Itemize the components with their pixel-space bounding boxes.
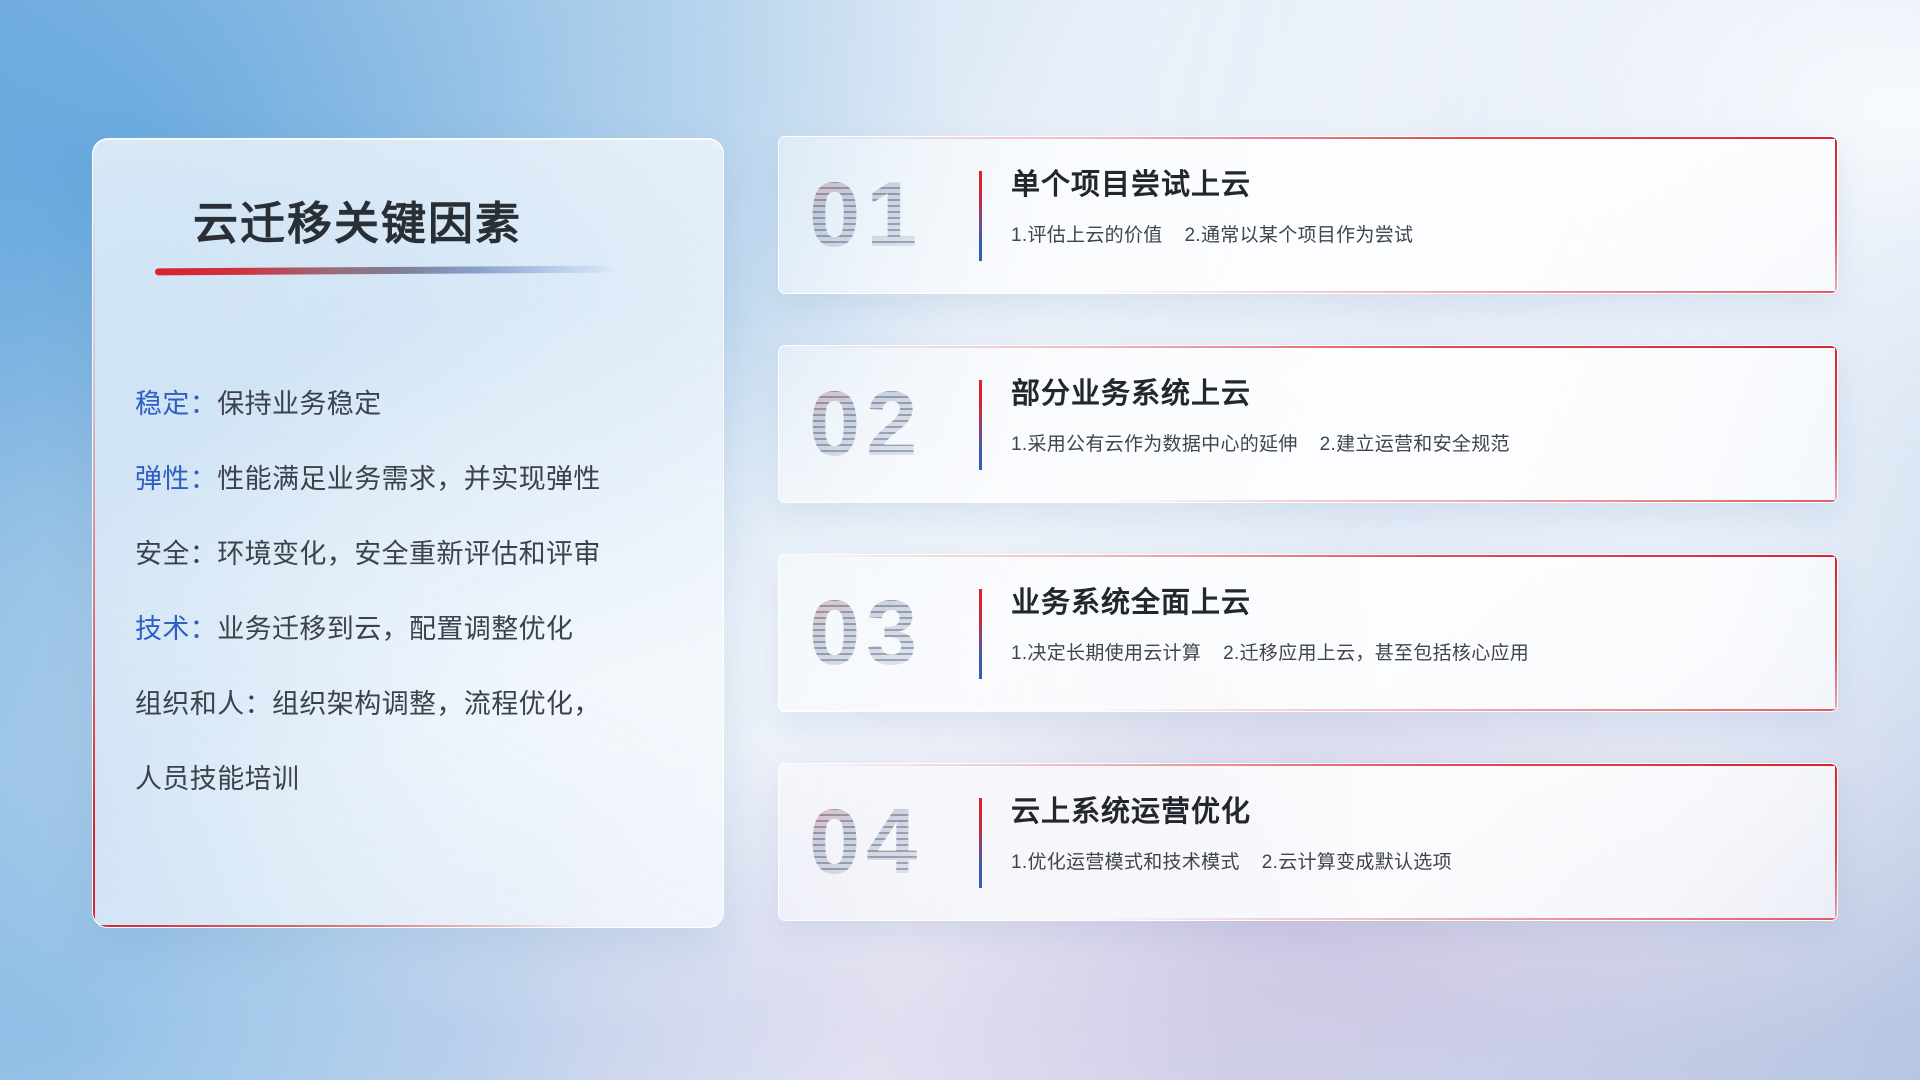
list-item: 人员技能培训 bbox=[135, 742, 697, 817]
factor-value: 性能满足业务需求，并实现弹性 bbox=[217, 464, 601, 494]
stage-card-04[interactable]: 04 云上系统运营优化 1.优化运营模式和技术模式2.云计算变成默认选项 bbox=[778, 763, 1838, 921]
stage-point-1: 1.决定长期使用云计算 bbox=[1011, 643, 1201, 664]
stage-number: 04 bbox=[809, 796, 923, 888]
stage-accent-bar bbox=[979, 171, 982, 261]
stage-description: 1.优化运营模式和技术模式2.云计算变成默认选项 bbox=[1011, 847, 1811, 874]
stage-accent-bar bbox=[979, 380, 982, 470]
card-bottom-accent bbox=[1096, 291, 1837, 293]
factor-label: 安全： bbox=[135, 539, 217, 569]
stage-description: 1.决定长期使用云计算2.迁移应用上云，甚至包括核心应用 bbox=[1011, 638, 1811, 665]
page-title: 云迁移关键因素 bbox=[193, 187, 522, 252]
list-item: 稳定：保持业务稳定 bbox=[135, 367, 697, 442]
stage-text-block: 单个项目尝试上云 1.评估上云的价值2.通常以某个项目作为尝试 bbox=[1011, 167, 1811, 247]
list-item: 弹性：性能满足业务需求，并实现弹性 bbox=[135, 442, 697, 517]
stage-description: 1.采用公有云作为数据中心的延伸2.建立运营和安全规范 bbox=[1011, 429, 1811, 456]
stage-point-1: 1.评估上云的价值 bbox=[1011, 225, 1163, 246]
stage-number: 02 bbox=[809, 378, 923, 470]
stage-title: 云上系统运营优化 bbox=[1011, 794, 1811, 830]
list-item: 组织和人：组织架构调整，流程优化， bbox=[135, 667, 697, 742]
stage-title: 业务系统全面上云 bbox=[1011, 585, 1811, 621]
factor-label: 弹性： bbox=[135, 464, 217, 494]
card-right-accent bbox=[1835, 764, 1837, 920]
card-top-accent bbox=[800, 764, 1837, 766]
stage-title: 部分业务系统上云 bbox=[1011, 376, 1811, 412]
key-factors-panel: 云迁移关键因素 稳定：保持业务稳定 弹性：性能满足业务需求，并实现弹性 安全：环… bbox=[92, 138, 724, 928]
card-right-accent bbox=[1835, 555, 1837, 711]
stage-point-2: 2.建立运营和安全规范 bbox=[1320, 434, 1510, 455]
stage-text-block: 业务系统全面上云 1.决定长期使用云计算2.迁移应用上云，甚至包括核心应用 bbox=[1011, 585, 1811, 665]
stage-card-02[interactable]: 02 部分业务系统上云 1.采用公有云作为数据中心的延伸2.建立运营和安全规范 bbox=[778, 345, 1838, 503]
card-right-accent bbox=[1835, 346, 1837, 502]
stage-description: 1.评估上云的价值2.通常以某个项目作为尝试 bbox=[1011, 220, 1811, 247]
stage-text-block: 部分业务系统上云 1.采用公有云作为数据中心的延伸2.建立运营和安全规范 bbox=[1011, 376, 1811, 456]
stage-point-1: 1.优化运营模式和技术模式 bbox=[1011, 852, 1240, 873]
stage-number: 03 bbox=[809, 587, 923, 679]
card-top-accent bbox=[800, 346, 1837, 348]
card-bottom-accent bbox=[1096, 500, 1837, 502]
stage-text-block: 云上系统运营优化 1.优化运营模式和技术模式2.云计算变成默认选项 bbox=[1011, 794, 1811, 874]
card-bottom-accent bbox=[1096, 918, 1837, 920]
factor-label: 稳定： bbox=[135, 389, 217, 419]
stage-title: 单个项目尝试上云 bbox=[1011, 167, 1811, 203]
key-factors-list: 稳定：保持业务稳定 弹性：性能满足业务需求，并实现弹性 安全：环境变化，安全重新… bbox=[135, 367, 697, 817]
stage-accent-bar bbox=[979, 798, 982, 888]
cloud-migration-stages: 01 单个项目尝试上云 1.评估上云的价值2.通常以某个项目作为尝试 02 部分… bbox=[778, 136, 1838, 972]
card-bottom-accent bbox=[1096, 709, 1837, 711]
factor-value: 环境变化，安全重新评估和评审 bbox=[217, 539, 601, 569]
factor-value: 保持业务稳定 bbox=[217, 389, 381, 419]
factor-value: 人员技能培训 bbox=[135, 764, 299, 794]
card-right-accent bbox=[1835, 137, 1837, 293]
card-top-accent bbox=[800, 137, 1837, 139]
factor-label: 组织和人： bbox=[135, 689, 272, 719]
stage-point-2: 2.云计算变成默认选项 bbox=[1262, 852, 1452, 873]
list-item: 安全：环境变化，安全重新评估和评审 bbox=[135, 517, 697, 592]
slide-canvas: 云迁移关键因素 稳定：保持业务稳定 弹性：性能满足业务需求，并实现弹性 安全：环… bbox=[0, 0, 1920, 1080]
stage-number: 01 bbox=[809, 169, 923, 261]
stage-accent-bar bbox=[979, 589, 982, 679]
stage-point-2: 2.迁移应用上云，甚至包括核心应用 bbox=[1223, 643, 1529, 664]
factor-value: 业务迁移到云，配置调整优化 bbox=[217, 614, 573, 644]
factor-label: 技术： bbox=[135, 614, 217, 644]
title-underline-rule bbox=[155, 266, 615, 276]
stage-card-03[interactable]: 03 业务系统全面上云 1.决定长期使用云计算2.迁移应用上云，甚至包括核心应用 bbox=[778, 554, 1838, 712]
factor-value: 组织架构调整，流程优化， bbox=[272, 689, 601, 719]
stage-card-01[interactable]: 01 单个项目尝试上云 1.评估上云的价值2.通常以某个项目作为尝试 bbox=[778, 136, 1838, 294]
stage-point-2: 2.通常以某个项目作为尝试 bbox=[1185, 225, 1414, 246]
list-item: 技术：业务迁移到云，配置调整优化 bbox=[135, 592, 697, 667]
card-top-accent bbox=[800, 555, 1837, 557]
stage-point-1: 1.采用公有云作为数据中心的延伸 bbox=[1011, 434, 1298, 455]
